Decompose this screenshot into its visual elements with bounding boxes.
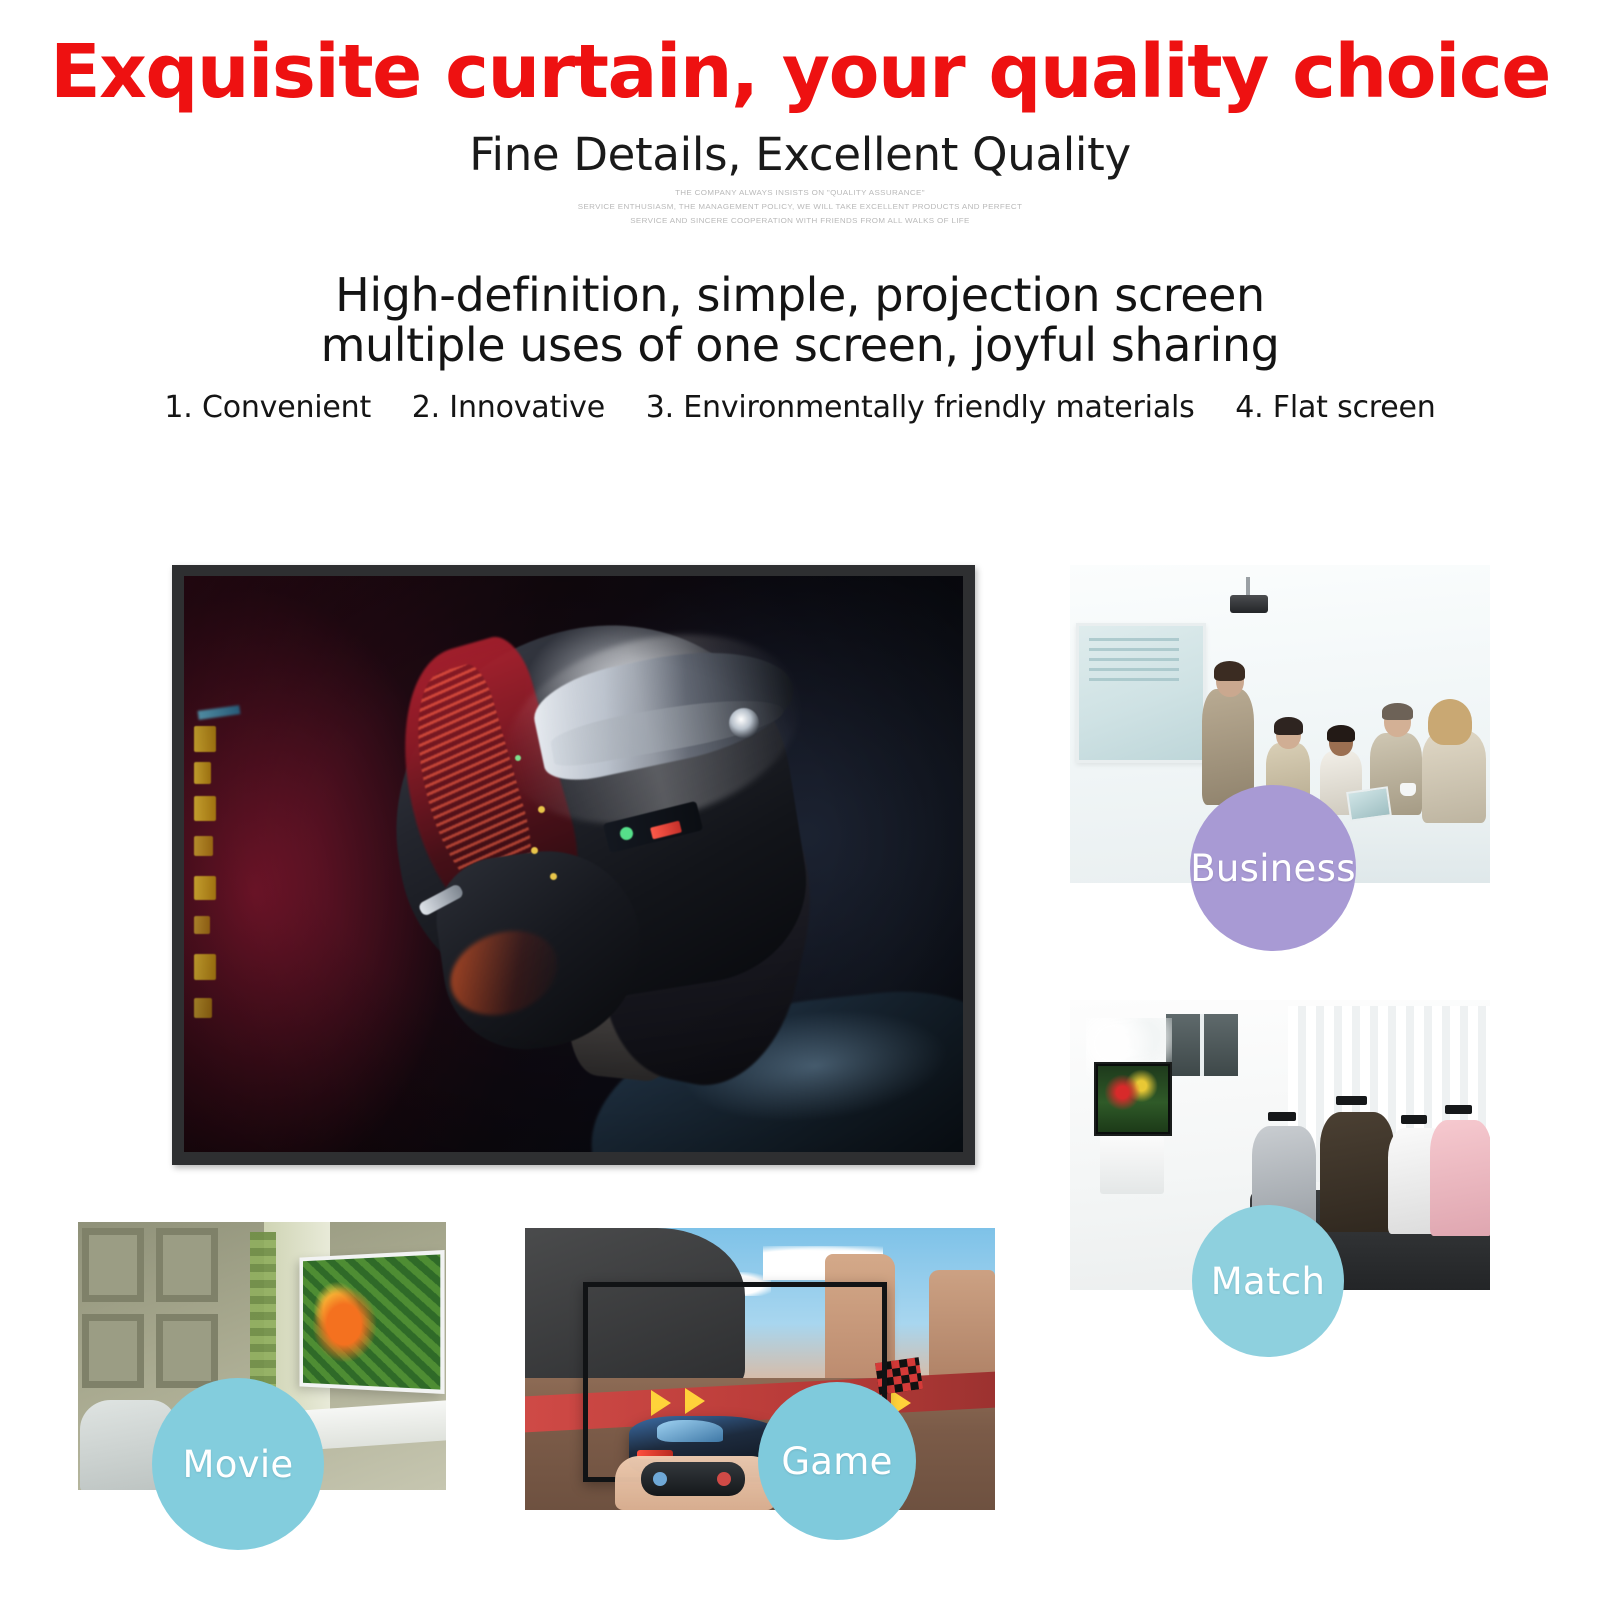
whiteboard-content: [1089, 638, 1179, 728]
image-vignette: [184, 576, 963, 1152]
wall-panel: [156, 1314, 218, 1388]
television-stand: [1100, 1136, 1164, 1194]
hero-projection-screen: [172, 565, 975, 1165]
3d-glasses-icon: [1268, 1112, 1296, 1121]
person-presenter-body: [1202, 689, 1254, 805]
whiteboard-line: [1089, 648, 1179, 651]
feature-item-3: 3. Environmentally friendly materials: [646, 390, 1195, 425]
wall-panel: [156, 1228, 218, 1302]
feature-item-4: 4. Flat screen: [1235, 390, 1435, 425]
scene-label-business: Business: [1190, 785, 1356, 951]
scene-label-movie: Movie: [152, 1378, 324, 1550]
scene-label-business-text: Business: [1190, 847, 1356, 890]
viewer-body: [1430, 1120, 1490, 1236]
projector-mount-rod: [1246, 577, 1250, 597]
tablet-device: [1346, 786, 1392, 822]
feature-item-2: 2. Innovative: [412, 390, 605, 425]
ceiling-projector-icon: [1230, 595, 1268, 613]
fineprint-line-3: SERVICE AND SINCERE COOPERATION WITH FRI…: [0, 216, 1600, 224]
3d-glasses-icon: [1445, 1105, 1472, 1114]
person-attendee-hair: [1327, 725, 1355, 742]
fineprint-line-1: THE COMPANY ALWAYS INSISTS ON "QUALITY A…: [0, 188, 1600, 196]
scene-label-game-text: Game: [781, 1440, 892, 1483]
page-subtitle: Fine Details, Excellent Quality: [0, 128, 1600, 181]
controller-left-stick: [653, 1472, 667, 1486]
page-title: Exquisite curtain, your quality choice: [0, 34, 1600, 112]
fineprint-line-2: SERVICE ENTHUSIASM, THE MANAGEMENT POLIC…: [0, 202, 1600, 210]
window-mullion: [1200, 1014, 1204, 1076]
viewer-body: [1320, 1112, 1394, 1232]
projection-screen-display: [300, 1250, 445, 1394]
person-attendee-hair: [1382, 703, 1413, 720]
person-attendee-hair: [1428, 699, 1472, 745]
whiteboard-line: [1089, 668, 1179, 671]
scene-label-movie-text: Movie: [182, 1443, 293, 1486]
whiteboard-line: [1089, 638, 1179, 641]
person-presenter-hair: [1214, 661, 1245, 681]
lead-line-1: High-definition, simple, projection scre…: [0, 268, 1600, 322]
whiteboard-line: [1089, 678, 1179, 681]
feature-item-1: 1. Convenient: [164, 390, 371, 425]
television-set: [1094, 1062, 1172, 1136]
wall-panel: [82, 1314, 144, 1388]
hero-screen-image: [184, 576, 963, 1152]
person-attendee-hair: [1274, 717, 1303, 735]
feature-list: 1. Convenient 2. Innovative 3. Environme…: [0, 390, 1600, 425]
scene-label-match-text: Match: [1211, 1260, 1325, 1303]
wall-panel: [82, 1228, 144, 1302]
3d-glasses-icon: [1401, 1115, 1427, 1124]
whiteboard-screen: [1076, 623, 1206, 763]
whiteboard-line: [1089, 658, 1179, 661]
scene-label-match: Match: [1192, 1205, 1344, 1357]
coffee-cup: [1400, 783, 1416, 796]
butterfly-nature-image: [303, 1254, 440, 1389]
product-marketing-page: Exquisite curtain, your quality choice F…: [0, 0, 1600, 1600]
controller-right-button: [717, 1472, 731, 1486]
scene-label-game: Game: [758, 1382, 916, 1540]
3d-glasses-icon: [1336, 1096, 1367, 1105]
lead-line-2: multiple uses of one screen, joyful shar…: [0, 318, 1600, 372]
television-sports-image: [1098, 1066, 1168, 1132]
